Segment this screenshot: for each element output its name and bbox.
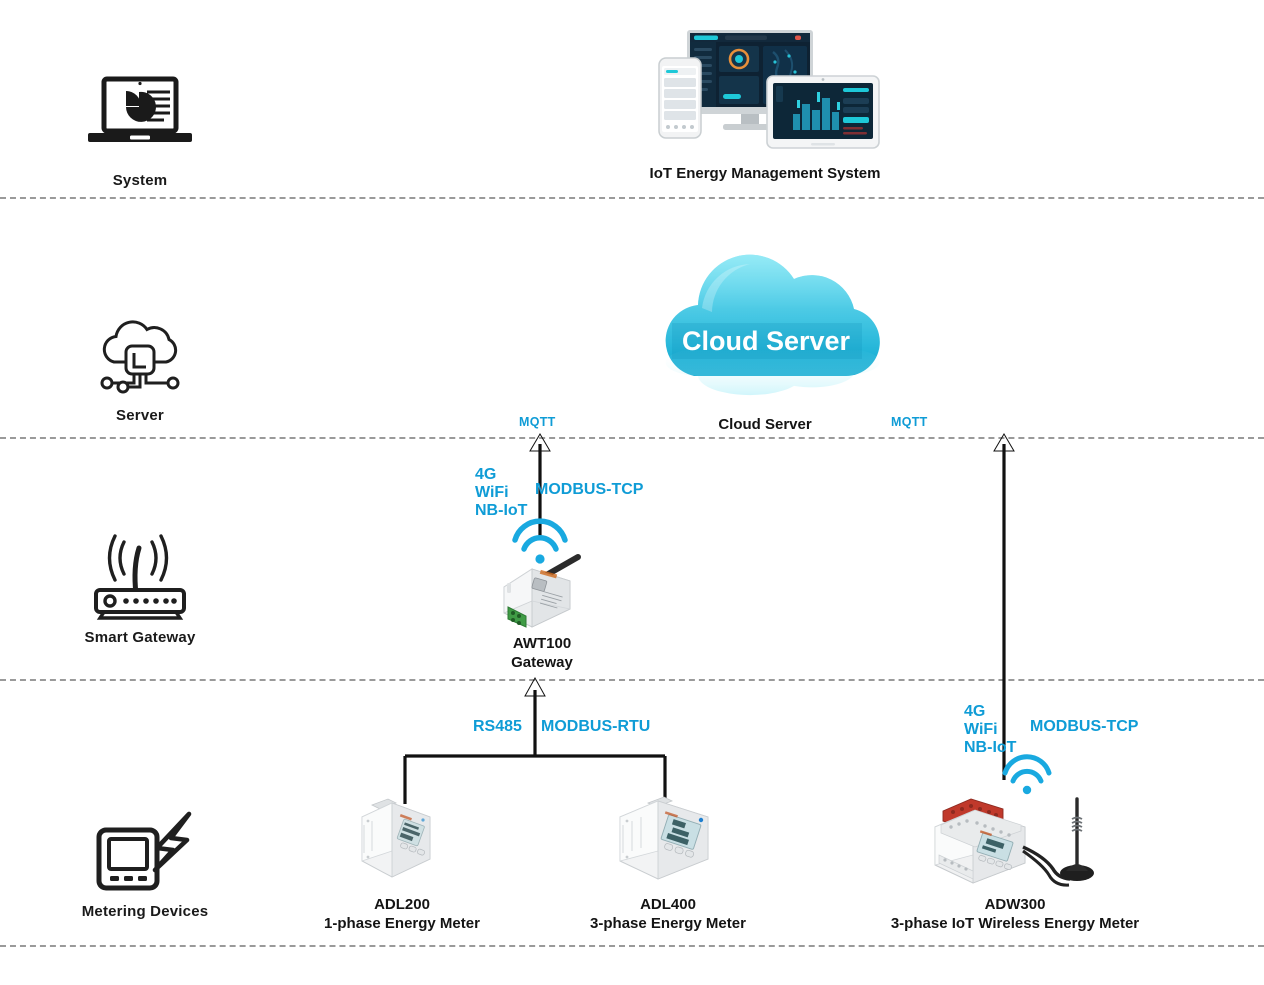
iot-system-caption: IoT Energy Management System [605,164,925,183]
router-antenna-icon [84,528,196,620]
devices-dashboard-image [645,28,885,153]
adl400-name: ADL400 [553,895,783,914]
adl200-subtitle: 1-phase Energy Meter [287,914,517,933]
divider-bottom [0,945,1264,947]
layer-server: Server [45,318,235,424]
cloud-server-image: Cloud Server [632,238,900,413]
adl200-caption: ADL200 1-phase Energy Meter [287,895,517,933]
gateway-caption: AWT100 Gateway [472,634,612,672]
adw300-caption: ADW300 3-phase IoT Wireless Energy Meter [870,895,1160,933]
bearer-stack-left: 4G WiFi NB-IoT [475,466,527,520]
bearer-wifi-left: WiFi [475,484,527,502]
adl400-caption: ADL400 3-phase Energy Meter [553,895,783,933]
layer-metering: Metering Devices [45,812,245,920]
bearer-nbiot-right: NB-IoT [964,739,1016,757]
fieldbus-protocol-label: MODBUS-RTU [541,718,650,735]
layer-gateway-label: Smart Gateway [85,629,196,646]
bearer-4g-right: 4G [964,703,1016,721]
cloud-server-caption: Cloud Server [640,415,890,434]
layer-server-label: Server [116,407,164,424]
layer-gateway: Smart Gateway [45,528,235,646]
meter-bolt-icon [85,812,205,894]
protocol-label-left: MODBUS-TCP [535,481,643,498]
adl200-name: ADL200 [287,895,517,914]
layer-system: System [45,75,235,189]
cloud-inner-label: Cloud Server [682,326,851,356]
laptop-chart-icon [82,75,198,163]
adw300-subtitle: 3-phase IoT Wireless Energy Meter [870,914,1160,933]
adw300-name: ADW300 [870,895,1160,914]
adl400-meter-image [612,793,724,885]
gateway-subtitle: Gateway [472,653,612,672]
bearer-stack-right: 4G WiFi NB-IoT [964,703,1016,757]
divider-system-server [0,197,1264,199]
mqtt-label-left: MQTT [519,414,556,431]
adl200-meter-image [352,795,452,883]
fieldbus-medium-label: RS485 [473,718,522,735]
bearer-4g-left: 4G [475,466,527,484]
adw300-meter-image [925,793,1100,888]
mqtt-label-right: MQTT [891,414,928,431]
iot-architecture-diagram: System [0,0,1264,985]
divider-server-gateway [0,437,1264,439]
layer-metering-label: Metering Devices [82,903,209,920]
bearer-wifi-right: WiFi [964,721,1016,739]
wifi-icon-adw300 [1001,758,1053,794]
protocol-label-right: MODBUS-TCP [1030,718,1138,735]
adl400-subtitle: 3-phase Energy Meter [553,914,783,933]
gateway-name: AWT100 [472,634,612,653]
awt100-gateway-image [486,553,598,631]
cloud-network-icon [88,318,192,398]
layer-system-label: System [113,172,168,189]
bearer-nbiot-left: NB-IoT [475,502,527,520]
